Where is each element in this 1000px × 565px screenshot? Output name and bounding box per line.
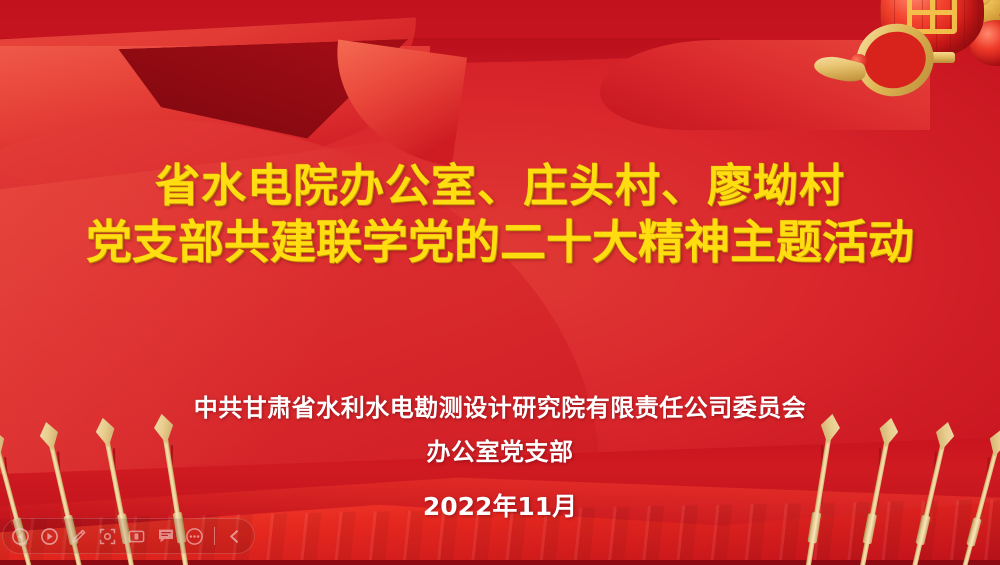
presenter-toolbar[interactable] xyxy=(2,518,255,554)
previous-slide-button[interactable] xyxy=(7,523,34,550)
laser-pointer-button[interactable] xyxy=(94,523,121,550)
more-options-button[interactable] xyxy=(181,523,208,550)
presentation-slide: 省水电院办公室、庄头村、廖坳村 党支部共建联学党的二十大精神主题活动 中共甘肃省… xyxy=(0,0,1000,565)
slide-subtitle: 中共甘肃省水利水电勘测设计研究院有限责任公司委员会 办公室党支部 xyxy=(0,386,1000,474)
lantern-decoration-cluster xyxy=(818,0,1000,116)
gold-tassel-icon xyxy=(812,24,922,98)
slide-title: 省水电院办公室、庄头村、廖坳村 党支部共建联学党的二十大精神主题活动 xyxy=(0,158,1000,270)
subtitle-line-2: 办公室党支部 xyxy=(0,430,1000,474)
pen-tool-button[interactable] xyxy=(65,523,92,550)
whiteboard-button[interactable] xyxy=(123,523,150,550)
toolbar-divider xyxy=(214,527,215,545)
title-line-1: 省水电院办公室、庄头村、廖坳村 xyxy=(0,158,1000,214)
bottom-edge-line xyxy=(0,560,1000,565)
subtitle-line-1: 中共甘肃省水利水电勘测设计研究院有限责任公司委员会 xyxy=(0,386,1000,430)
comment-button[interactable] xyxy=(152,523,179,550)
title-line-2: 党支部共建联学党的二十大精神主题活动 xyxy=(0,214,1000,270)
next-slide-button[interactable] xyxy=(36,523,63,550)
collapse-toolbar-button[interactable] xyxy=(221,523,248,550)
